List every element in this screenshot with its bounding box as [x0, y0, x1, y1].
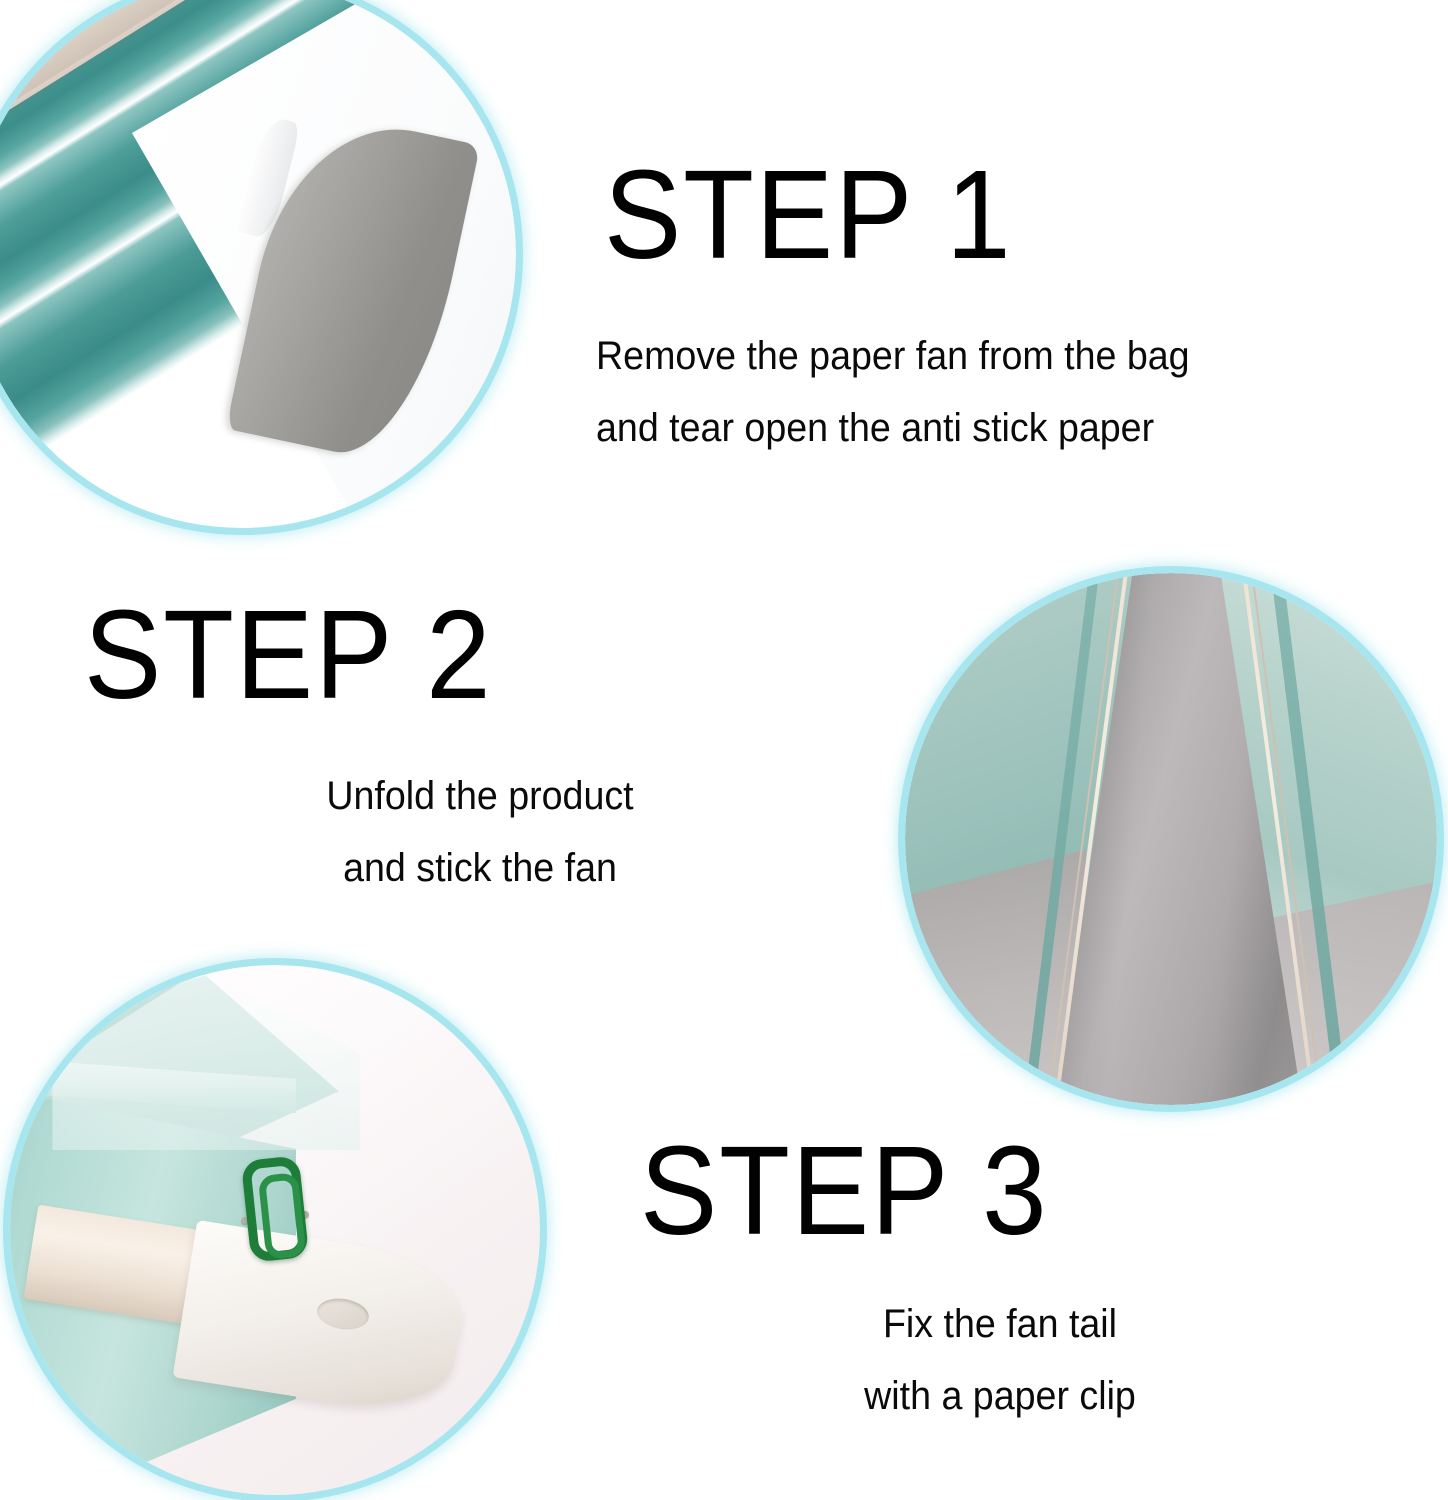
- step-1-body-line-2: and tear open the anti stick paper: [596, 392, 1190, 464]
- folded-paper-fan-photo: [0, 0, 516, 528]
- step-2-body-line-1: Unfold the product: [217, 760, 743, 832]
- photo3-content: [10, 965, 540, 1495]
- step-3-body-line-1: Fix the fan tail: [774, 1288, 1225, 1360]
- fan-tail-paperclip-photo: [10, 965, 540, 1495]
- step-3-body-line-2: with a paper clip: [774, 1360, 1225, 1432]
- step-3-body: Fix the fan tail with a paper clip: [774, 1288, 1225, 1432]
- step-3-heading: STEP 3: [640, 1128, 1048, 1254]
- unfolded-fan-photo: [905, 573, 1437, 1105]
- step-1-body-line-1: Remove the paper fan from the bag: [596, 320, 1190, 392]
- green-paper-clip-inner-loop: [257, 1172, 306, 1260]
- step-2-body: Unfold the product and stick the fan: [217, 760, 743, 904]
- photo2-content: [905, 573, 1437, 1105]
- step-1-body: Remove the paper fan from the bag and te…: [596, 320, 1190, 464]
- photo1-content: [0, 0, 516, 528]
- step-1-heading: STEP 1: [604, 152, 1012, 278]
- infographic-canvas: STEP 1 Remove the paper fan from the bag…: [0, 0, 1448, 1500]
- step-2-body-line-2: and stick the fan: [217, 832, 743, 904]
- step-2-heading: STEP 2: [84, 592, 492, 718]
